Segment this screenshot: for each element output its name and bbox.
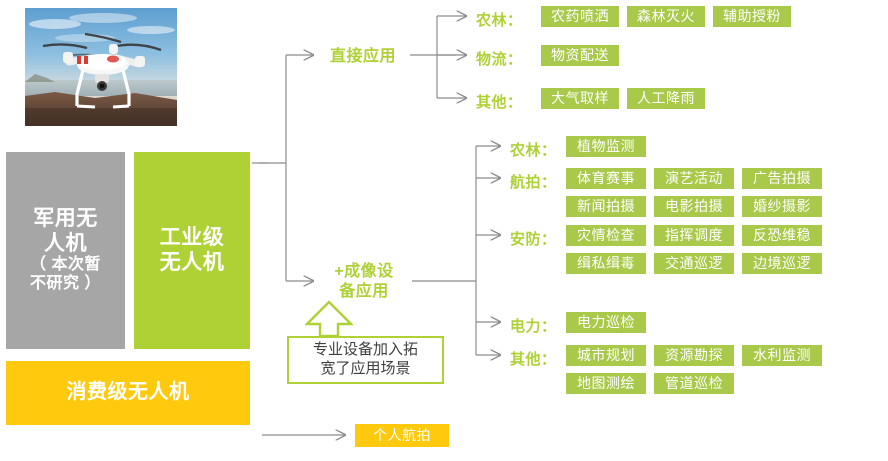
tag-direct-2-1[interactable]: 人工降雨 [627,88,705,109]
branch-label-imaging-3: 电力： [510,315,557,336]
tag-direct-0-2[interactable]: 辅助授粉 [713,6,791,27]
tag-imaging-4-4[interactable]: 管道巡检 [654,373,734,394]
category-military-note-line1: （ 本次暂 [30,256,101,275]
callout-note: 专业设备加入拓 宽了应用场景 [287,336,444,384]
category-industrial-drone[interactable]: 工业级 无人机 [134,152,250,349]
tag-imaging-0-0[interactable]: 植物监测 [566,136,646,157]
tag-imaging-2-2[interactable]: 反恐维稳 [742,225,822,246]
branch-label-imaging-2: 安防： [510,228,557,249]
diagram-canvas: 军用无 人机 （ 本次暂 不研究 ） 工业级 无人机 消费级无人机 直接应用 +… [0,0,888,461]
hub-imaging-equipment-application[interactable]: +成像设 备应用 [322,262,406,302]
category-industrial-line1: 工业级 [160,226,225,251]
tag-imaging-4-1[interactable]: 资源勘探 [654,345,734,366]
hub-imaging-line1: +成像设 [322,262,406,282]
tag-imaging-4-2[interactable]: 水利监测 [742,345,822,366]
tag-imaging-1-5[interactable]: 婚纱摄影 [742,196,822,217]
tag-imaging-1-2[interactable]: 广告拍摄 [742,168,822,189]
branch-label-direct-1: 物流： [476,48,523,69]
tag-direct-0-1[interactable]: 森林灭火 [627,6,705,27]
hub-direct-application[interactable]: 直接应用 [321,47,405,67]
tag-imaging-2-5[interactable]: 边境巡逻 [742,253,822,274]
tag-imaging-2-0[interactable]: 灾情检查 [566,225,646,246]
callout-line1: 专业设备加入拓 [313,341,418,360]
hub-imaging-line2: 备应用 [322,282,406,302]
callout-line2: 宽了应用场景 [313,360,418,379]
tag-personal-aerial-label: 个人航拍 [373,427,431,443]
category-military-drone[interactable]: 军用无 人机 （ 本次暂 不研究 ） [6,152,125,349]
branch-label-imaging-0: 农林： [510,139,557,160]
hub-direct-label: 直接应用 [330,48,396,65]
category-military-line2: 人机 [30,232,101,257]
tag-imaging-4-3[interactable]: 地图测绘 [566,373,646,394]
tag-direct-1-0[interactable]: 物资配送 [541,45,619,66]
branch-label-imaging-1: 航拍： [510,171,557,192]
tag-direct-2-0[interactable]: 大气取样 [541,88,619,109]
tag-personal-aerial[interactable]: 个人航拍 [355,424,449,447]
category-consumer-label: 消费级无人机 [67,381,190,405]
tag-imaging-1-4[interactable]: 电影拍摄 [654,196,734,217]
branch-label-direct-2: 其他： [476,91,523,112]
tag-imaging-4-0[interactable]: 城市规划 [566,345,646,366]
category-military-line1: 军用无 [30,207,101,232]
tag-direct-0-0[interactable]: 农药喷洒 [541,6,619,27]
tag-imaging-2-1[interactable]: 指挥调度 [654,225,734,246]
tag-imaging-1-0[interactable]: 体育赛事 [566,168,646,189]
category-consumer-drone[interactable]: 消费级无人机 [6,361,250,425]
branch-label-imaging-4: 其他： [510,348,557,369]
tag-imaging-2-3[interactable]: 缉私缉毒 [566,253,646,274]
category-military-note-line2: 不研究 ） [30,275,101,294]
tag-imaging-1-1[interactable]: 演艺活动 [654,168,734,189]
tag-imaging-2-4[interactable]: 交通巡逻 [654,253,734,274]
branch-label-direct-0: 农林： [476,9,523,30]
tag-imaging-3-0[interactable]: 电力巡检 [566,312,646,333]
callout-up-arrow [305,300,353,338]
category-industrial-line2: 无人机 [160,251,225,276]
tag-imaging-1-3[interactable]: 新闻拍摄 [566,196,646,217]
